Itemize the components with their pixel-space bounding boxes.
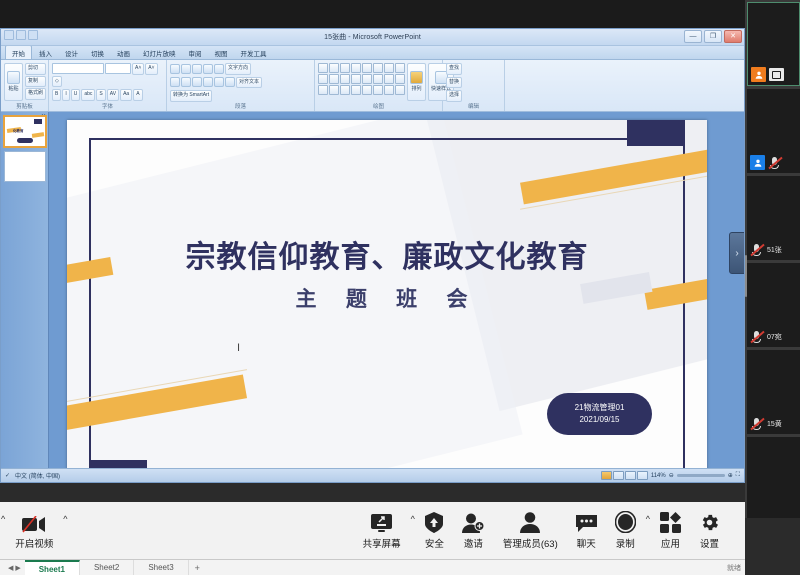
- screen-share-icon: [769, 68, 784, 81]
- ribbon: 粘贴 剪切 复制 格式刷 剪贴板 A˄ A˅ ◇: [1, 60, 744, 112]
- bullets-icon[interactable]: [170, 64, 180, 74]
- underline-button[interactable]: U: [71, 89, 81, 101]
- badge-date: 2021/09/15: [579, 415, 619, 425]
- video-participant-pane[interactable]: 51张 07宛 15黄: [745, 0, 800, 518]
- text-direction-button[interactable]: 文字方向: [225, 63, 251, 75]
- avatar: [750, 155, 765, 170]
- tile-name: 07宛: [767, 332, 782, 342]
- tile-name: 51张: [767, 245, 782, 255]
- font-size-input[interactable]: [105, 63, 131, 74]
- shape-square-icon[interactable]: [362, 63, 372, 73]
- view-buttons[interactable]: [601, 471, 648, 480]
- increase-indent-icon[interactable]: [203, 64, 213, 74]
- decrease-font-icon[interactable]: A˅: [145, 63, 157, 75]
- corner-navy-top-right: [627, 120, 685, 146]
- strikethrough-button[interactable]: abc: [81, 89, 95, 101]
- video-tile-5[interactable]: 15黄: [747, 350, 800, 434]
- shadow-button[interactable]: S: [96, 89, 105, 101]
- shape-line-icon[interactable]: [340, 63, 350, 73]
- desktop-top-strip: [0, 0, 745, 28]
- shape-oval-icon[interactable]: [384, 63, 394, 73]
- quick-access-toolbar[interactable]: [4, 30, 38, 40]
- shape-freeform-icon[interactable]: [318, 85, 328, 95]
- shape-arc-icon[interactable]: [351, 85, 361, 95]
- ribbon-group-paragraph: 文字方向 对齐文本 转换为 SmartArt 段落: [167, 60, 315, 111]
- align-left-icon[interactable]: [170, 77, 180, 87]
- tile-badges: [750, 155, 785, 170]
- video-tile-3[interactable]: 51张: [747, 176, 800, 260]
- slide-canvas: 宗教信仰教育、廉政文化教育 主 题 班 会 I 21物流管理01 2021/09…: [49, 112, 744, 468]
- char-spacing-button[interactable]: AV: [107, 89, 119, 101]
- view-slideshow-icon[interactable]: [637, 471, 648, 480]
- mic-off-icon: [750, 417, 764, 431]
- settings-button[interactable]: 设置: [690, 511, 729, 550]
- excel-status-right: 就绪: [727, 563, 745, 573]
- tab-slideshow[interactable]: 幻灯片放映: [137, 46, 182, 59]
- zoom-meeting-toolbar: ^ 开启视频 ^ 共享屏幕 ^: [0, 502, 745, 559]
- badge-class: 21物流管理01: [575, 403, 625, 413]
- powerpoint-titlebar: 15张曲 - Microsoft PowerPoint — ❐ ✕: [1, 29, 744, 46]
- corner-navy-bottom-left: [89, 460, 147, 468]
- group-label-clipboard: 剪贴板: [4, 102, 45, 111]
- shape-textbox-icon[interactable]: [329, 63, 339, 73]
- record-icon: [615, 511, 636, 533]
- numbering-icon[interactable]: [181, 64, 191, 74]
- slide-thumbnail-1[interactable]: 化教育: [4, 116, 46, 147]
- apps-grid-icon: [660, 511, 681, 533]
- undo-icon[interactable]: [16, 30, 26, 40]
- shape-star-icon[interactable]: [384, 74, 394, 84]
- columns-icon[interactable]: [225, 77, 235, 87]
- powerpoint-window: 15张曲 - Microsoft PowerPoint — ❐ ✕ 开始 插入 …: [0, 28, 745, 483]
- shape-arrow-icon[interactable]: [351, 63, 361, 73]
- restore-button[interactable]: ❐: [704, 30, 722, 43]
- format-painter-button[interactable]: 格式刷: [25, 88, 46, 100]
- align-text-button[interactable]: 对齐文本: [236, 77, 262, 89]
- increase-font-icon[interactable]: A˄: [132, 63, 144, 75]
- share-screen-icon: [371, 511, 392, 533]
- tile-badges: 07宛: [750, 330, 782, 344]
- bold-button[interactable]: B: [52, 89, 61, 101]
- manage-participants-button[interactable]: 管理成员(63): [494, 511, 567, 550]
- shape-bracket-icon[interactable]: [384, 85, 394, 95]
- status-language[interactable]: 中文 (简体, 中国): [15, 471, 60, 480]
- replace-button[interactable]: 替换: [446, 77, 462, 89]
- slide-badge[interactable]: 21物流管理01 2021/09/15: [547, 393, 652, 435]
- zoom-slider[interactable]: [677, 474, 725, 477]
- apps-button[interactable]: 应用: [651, 511, 690, 550]
- sheet-tab-2[interactable]: Sheet2: [80, 560, 134, 575]
- close-button[interactable]: ✕: [724, 30, 742, 43]
- tab-transitions[interactable]: 切换: [85, 46, 110, 59]
- ribbon-tabs[interactable]: 开始 插入 设计 切换 动画 幻灯片放映 审阅 视图 开发工具: [1, 46, 744, 60]
- shape-circle-icon[interactable]: [362, 74, 372, 84]
- security-button[interactable]: 安全: [416, 511, 453, 550]
- excel-sheet-tab-strip[interactable]: ◀ ▶ Sheet1 Sheet2 Sheet3 + 就绪: [0, 559, 745, 575]
- apps-label: 应用: [661, 536, 680, 550]
- window-title: 15张曲 - Microsoft PowerPoint: [324, 32, 421, 42]
- font-color-button[interactable]: A: [133, 89, 142, 101]
- chat-bubble-icon: [576, 511, 597, 533]
- add-sheet-button[interactable]: +: [189, 563, 206, 573]
- decrease-indent-icon[interactable]: [192, 64, 202, 74]
- select-button[interactable]: 选择: [446, 90, 462, 102]
- ribbon-group-drawing: 排列 快速样式 绘图: [315, 60, 443, 111]
- convert-smartart-button[interactable]: 转换为 SmartArt: [170, 90, 212, 102]
- distribute-icon[interactable]: [214, 77, 224, 87]
- shape-callout-icon[interactable]: [395, 74, 405, 84]
- chat-button[interactable]: 聊天: [567, 511, 606, 550]
- slide-title[interactable]: 宗教信仰教育、廉政文化教育: [67, 232, 707, 276]
- ribbon-group-font: A˄ A˅ ◇ B I U abc S AV Aa A 字体: [49, 60, 167, 111]
- share-screen-label: 共享屏幕: [363, 536, 401, 550]
- redo-icon[interactable]: [28, 30, 38, 40]
- tile-badges: 15黄: [750, 417, 782, 431]
- align-center-icon[interactable]: [181, 77, 191, 87]
- security-shield-icon: [425, 511, 443, 533]
- zoom-out-icon[interactable]: ⊖: [669, 472, 674, 479]
- tab-developer[interactable]: 开发工具: [235, 46, 273, 59]
- shape-rounded-icon[interactable]: [373, 63, 383, 73]
- tab-insert[interactable]: 插入: [33, 46, 58, 59]
- group-label-editing: 编辑: [446, 102, 501, 111]
- powerpoint-workspace: ✕ 化教育: [1, 112, 744, 468]
- status-right-cluster: 114% ⊖ ⊕ ⛶: [601, 471, 740, 480]
- tab-review[interactable]: 审阅: [183, 46, 208, 59]
- copy-button[interactable]: 复制: [25, 76, 46, 88]
- desktop-right-strip: [745, 518, 800, 575]
- video-chevron-icon[interactable]: ^: [62, 514, 68, 524]
- group-label-paragraph: 段落: [170, 102, 311, 111]
- mic-off-icon: [750, 243, 764, 257]
- minimize-button[interactable]: —: [684, 30, 702, 43]
- shape-corner-icon[interactable]: [340, 74, 350, 84]
- justify-icon[interactable]: [203, 77, 213, 87]
- next-slide-button[interactable]: ›: [729, 232, 744, 274]
- gear-icon: [699, 511, 720, 533]
- shape-triangle-icon[interactable]: [329, 74, 339, 84]
- shape-box-icon[interactable]: [318, 74, 328, 84]
- change-case-button[interactable]: Aa: [120, 89, 132, 101]
- record-button[interactable]: 录制: [606, 511, 645, 550]
- start-video-label: 开启视频: [15, 536, 53, 550]
- shape-brace-left-icon[interactable]: [362, 85, 372, 95]
- text-cursor: I: [237, 342, 240, 354]
- shape-curve-icon[interactable]: [340, 85, 350, 95]
- invite-label: 邀请: [464, 536, 483, 550]
- group-label-drawing: 绘图: [318, 102, 439, 111]
- shape-scribble-icon[interactable]: [329, 85, 339, 95]
- shapes-gallery[interactable]: [318, 63, 405, 95]
- chat-label: 聊天: [577, 536, 596, 550]
- thumb-badge: [17, 138, 33, 143]
- thumb-navy-block: [34, 119, 42, 124]
- sheet-tab-1[interactable]: Sheet1: [25, 560, 80, 575]
- view-sorter-icon[interactable]: [613, 471, 624, 480]
- save-icon[interactable]: [4, 30, 14, 40]
- participants-label: 管理成员(63): [503, 536, 558, 550]
- align-right-icon[interactable]: [192, 77, 202, 87]
- participants-icon: [520, 511, 540, 533]
- italic-button[interactable]: I: [62, 89, 69, 101]
- invite-person-icon: [462, 511, 485, 533]
- paste-icon: [7, 71, 20, 84]
- window-controls[interactable]: — ❐ ✕: [684, 30, 742, 43]
- tab-view[interactable]: 视图: [209, 46, 234, 59]
- share-screen-button[interactable]: 共享屏幕: [354, 511, 410, 550]
- tab-design[interactable]: 设计: [59, 46, 84, 59]
- mic-off-icon: [768, 156, 782, 170]
- slide-thumbnail-pane[interactable]: ✕ 化教育: [1, 112, 49, 468]
- zoom-level: 114%: [651, 473, 666, 479]
- video-tile-4[interactable]: 07宛: [747, 263, 800, 347]
- ribbon-group-editing: 查找 替换 选择 编辑: [443, 60, 505, 111]
- record-label: 录制: [616, 536, 635, 550]
- cut-button[interactable]: 剪切: [25, 63, 46, 75]
- shape-rectangle-icon[interactable]: [318, 63, 328, 73]
- video-tile-6[interactable]: [747, 437, 800, 518]
- tab-animations[interactable]: 动画: [111, 46, 136, 59]
- group-label-font: 字体: [52, 102, 163, 111]
- paste-button[interactable]: 粘贴: [4, 63, 23, 101]
- video-off-icon: [22, 511, 46, 533]
- shape-dropdown-icon[interactable]: [395, 85, 405, 95]
- invite-button[interactable]: 邀请: [453, 511, 494, 550]
- tile-badges: 51张: [750, 243, 782, 257]
- arrange-button[interactable]: 排列: [407, 63, 426, 101]
- start-video-button[interactable]: 开启视频: [6, 511, 62, 550]
- shape-downarrow-icon[interactable]: [373, 74, 383, 84]
- tile-name: 15黄: [767, 419, 782, 429]
- settings-label: 设置: [700, 536, 719, 550]
- powerpoint-status-bar: ✓ 中文 (简体, 中国) 114% ⊖ ⊕ ⛶: [1, 468, 744, 482]
- video-tile-2[interactable]: [747, 89, 800, 173]
- ribbon-group-clipboard: 粘贴 剪切 复制 格式刷 剪贴板: [1, 60, 49, 111]
- find-button[interactable]: 查找: [446, 63, 462, 75]
- shape-brace-right-icon[interactable]: [373, 85, 383, 95]
- shape-cube-icon[interactable]: [351, 74, 361, 84]
- video-pane-scrollbar[interactable]: [745, 255, 747, 297]
- clear-format-icon[interactable]: ◇: [52, 76, 62, 88]
- view-reading-icon[interactable]: [625, 471, 636, 480]
- line-spacing-icon[interactable]: [214, 64, 224, 74]
- mic-off-icon: [750, 330, 764, 344]
- slide-thumbnail-2[interactable]: [4, 151, 46, 182]
- spellcheck-icon[interactable]: ✓: [5, 472, 10, 479]
- zoom-in-icon[interactable]: ⊕: [728, 472, 733, 479]
- arrange-icon: [410, 71, 423, 84]
- sheet-tab-3[interactable]: Sheet3: [134, 560, 188, 575]
- avatar: [751, 67, 766, 82]
- shape-more-icon[interactable]: [395, 63, 405, 73]
- slide-subtitle[interactable]: 主 题 班 会: [67, 283, 707, 313]
- excel-status-text: 就绪: [727, 563, 741, 573]
- view-normal-icon[interactable]: [601, 471, 612, 480]
- video-tile-1[interactable]: [747, 2, 800, 86]
- slide-surface[interactable]: 宗教信仰教育、廉政文化教育 主 题 班 会 I 21物流管理01 2021/09…: [67, 120, 707, 468]
- sheet-nav-arrows[interactable]: ◀ ▶: [4, 564, 25, 572]
- tab-home[interactable]: 开始: [5, 45, 32, 59]
- font-name-input[interactable]: [52, 63, 104, 74]
- thumb-title-text: 化教育: [13, 129, 24, 134]
- tile-badges: [751, 67, 787, 82]
- fit-to-window-icon[interactable]: ⛶: [736, 472, 740, 479]
- security-label: 安全: [425, 536, 444, 550]
- thumb-gold-band-2: [32, 132, 44, 138]
